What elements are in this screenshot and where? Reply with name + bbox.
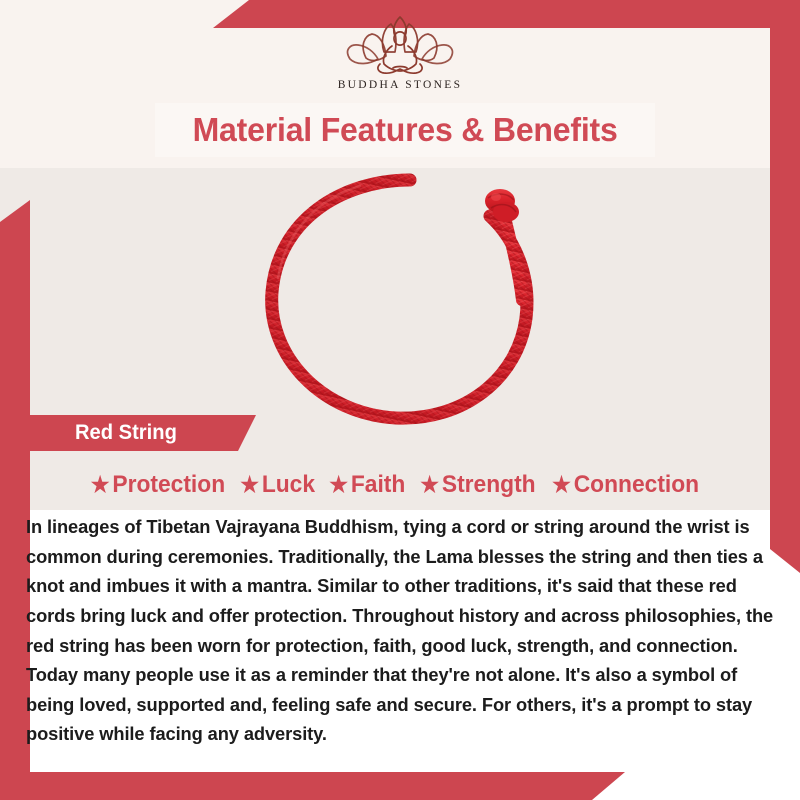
star-icon: ★ — [420, 474, 439, 496]
star-icon: ★ — [91, 474, 110, 496]
benefit-label: Protection — [112, 471, 234, 499]
lotus-meditation-icon — [336, 14, 464, 76]
description-paragraph: In lineages of Tibetan Vajrayana Buddhis… — [26, 512, 774, 749]
section-ribbon-label: Red String — [19, 421, 177, 445]
decorative-bar-right — [770, 28, 800, 573]
brand-name: BUDDHA STONES — [338, 79, 463, 91]
section-ribbon: Red String — [16, 415, 256, 451]
star-icon: ★ — [553, 474, 572, 496]
star-icon: ★ — [240, 474, 259, 496]
decorative-bar-bottom — [0, 772, 625, 800]
benefits-row: ★ Protection ★ Luck ★ Faith ★ Strength ★… — [30, 466, 770, 504]
benefit-label: Faith — [351, 471, 415, 499]
benefit-item: ★ Protection — [91, 471, 235, 499]
brand-logo: BUDDHA STONES — [0, 14, 800, 91]
benefit-label: Connection — [574, 471, 709, 499]
benefit-label: Strength — [442, 471, 545, 499]
star-icon: ★ — [329, 474, 348, 496]
benefit-item: ★ Connection — [553, 471, 709, 499]
benefit-item: ★ Faith — [329, 471, 415, 499]
benefit-item: ★ Strength — [420, 471, 545, 499]
red-braided-string-bracelet-icon — [250, 168, 580, 430]
page-title-text: Material Features & Benefits — [192, 111, 617, 149]
benefit-label: Luck — [262, 471, 325, 499]
benefit-item: ★ Luck — [240, 471, 324, 499]
infographic-page: BUDDHA STONES Material Features & Benefi… — [0, 0, 800, 800]
page-title: Material Features & Benefits — [155, 103, 655, 157]
product-image — [250, 168, 580, 430]
